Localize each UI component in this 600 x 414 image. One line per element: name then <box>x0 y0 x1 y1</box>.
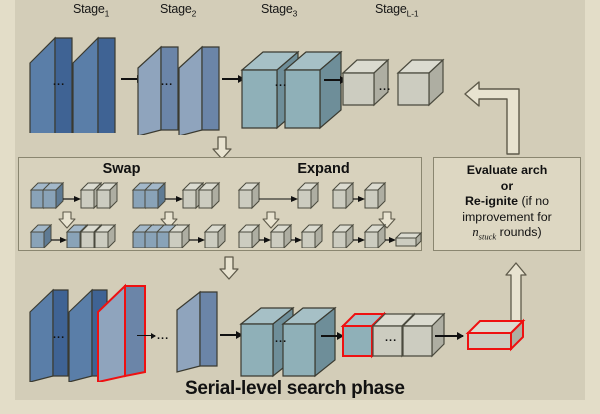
bottom-stage2-block <box>173 288 233 373</box>
stageL-ellipsis-top: ... <box>379 82 391 93</box>
bottom-ellipsis-mid: ... <box>157 331 169 342</box>
swap-example-2 <box>131 178 236 248</box>
stage2-ellipsis-top: ... <box>161 77 173 88</box>
stage-label-3: Stage3 <box>261 2 297 19</box>
stage-label-2: Stage2 <box>160 2 196 19</box>
loop-back-arrow-icon <box>459 80 539 155</box>
eval-line-5: nstuck rounds) <box>434 225 580 242</box>
stage-label-1: Stage1 <box>73 2 109 19</box>
bottom-stageL-ellipsis: ... <box>385 333 397 344</box>
swap-expand-panel: Swap Expand <box>18 157 422 251</box>
diagram-canvas: Stage1 Stage2 Stage3 StageL-1 ... ... <box>15 0 585 400</box>
bottom-arrow-1 <box>137 335 155 336</box>
stage3-blocks-top <box>237 42 347 132</box>
swap-example-1 <box>29 178 129 248</box>
expand-title: Expand <box>224 161 423 177</box>
figure-title: Serial-level search phase <box>185 378 405 400</box>
bottom-stageL-blocks-b <box>400 310 460 370</box>
eval-line-4: improvement for <box>434 210 580 226</box>
bottom-stage1-ellipsis: ... <box>53 330 65 341</box>
stage-label-L-1: StageL-1 <box>375 2 418 19</box>
evaluate-arch-box: Evaluate arch or Re-ignite (if no improv… <box>433 157 581 251</box>
stage1-ellipsis-top: ... <box>53 77 65 88</box>
expand-example-1 <box>237 178 337 248</box>
eval-line-1: Evaluate arch <box>434 163 580 179</box>
stage2-blocks-top <box>133 30 253 135</box>
swap-title: Swap <box>19 161 224 177</box>
down-arrow-icon-bottom <box>218 256 240 280</box>
stageL-blocks-top <box>340 55 455 115</box>
bottom-stage3-blocks <box>237 300 347 380</box>
bottom-arrow-4 <box>435 335 463 337</box>
eval-line-3: Re-ignite (if no <box>434 194 580 210</box>
figure-root: Stage1 Stage2 Stage3 StageL-1 ... ... <box>0 0 600 414</box>
stage3-ellipsis-top: ... <box>275 78 287 89</box>
bottom-output-slab <box>465 315 535 360</box>
eval-line-2: or <box>434 179 580 195</box>
expand-example-2 <box>331 178 431 248</box>
bottom-stage3-ellipsis: ... <box>275 334 287 345</box>
